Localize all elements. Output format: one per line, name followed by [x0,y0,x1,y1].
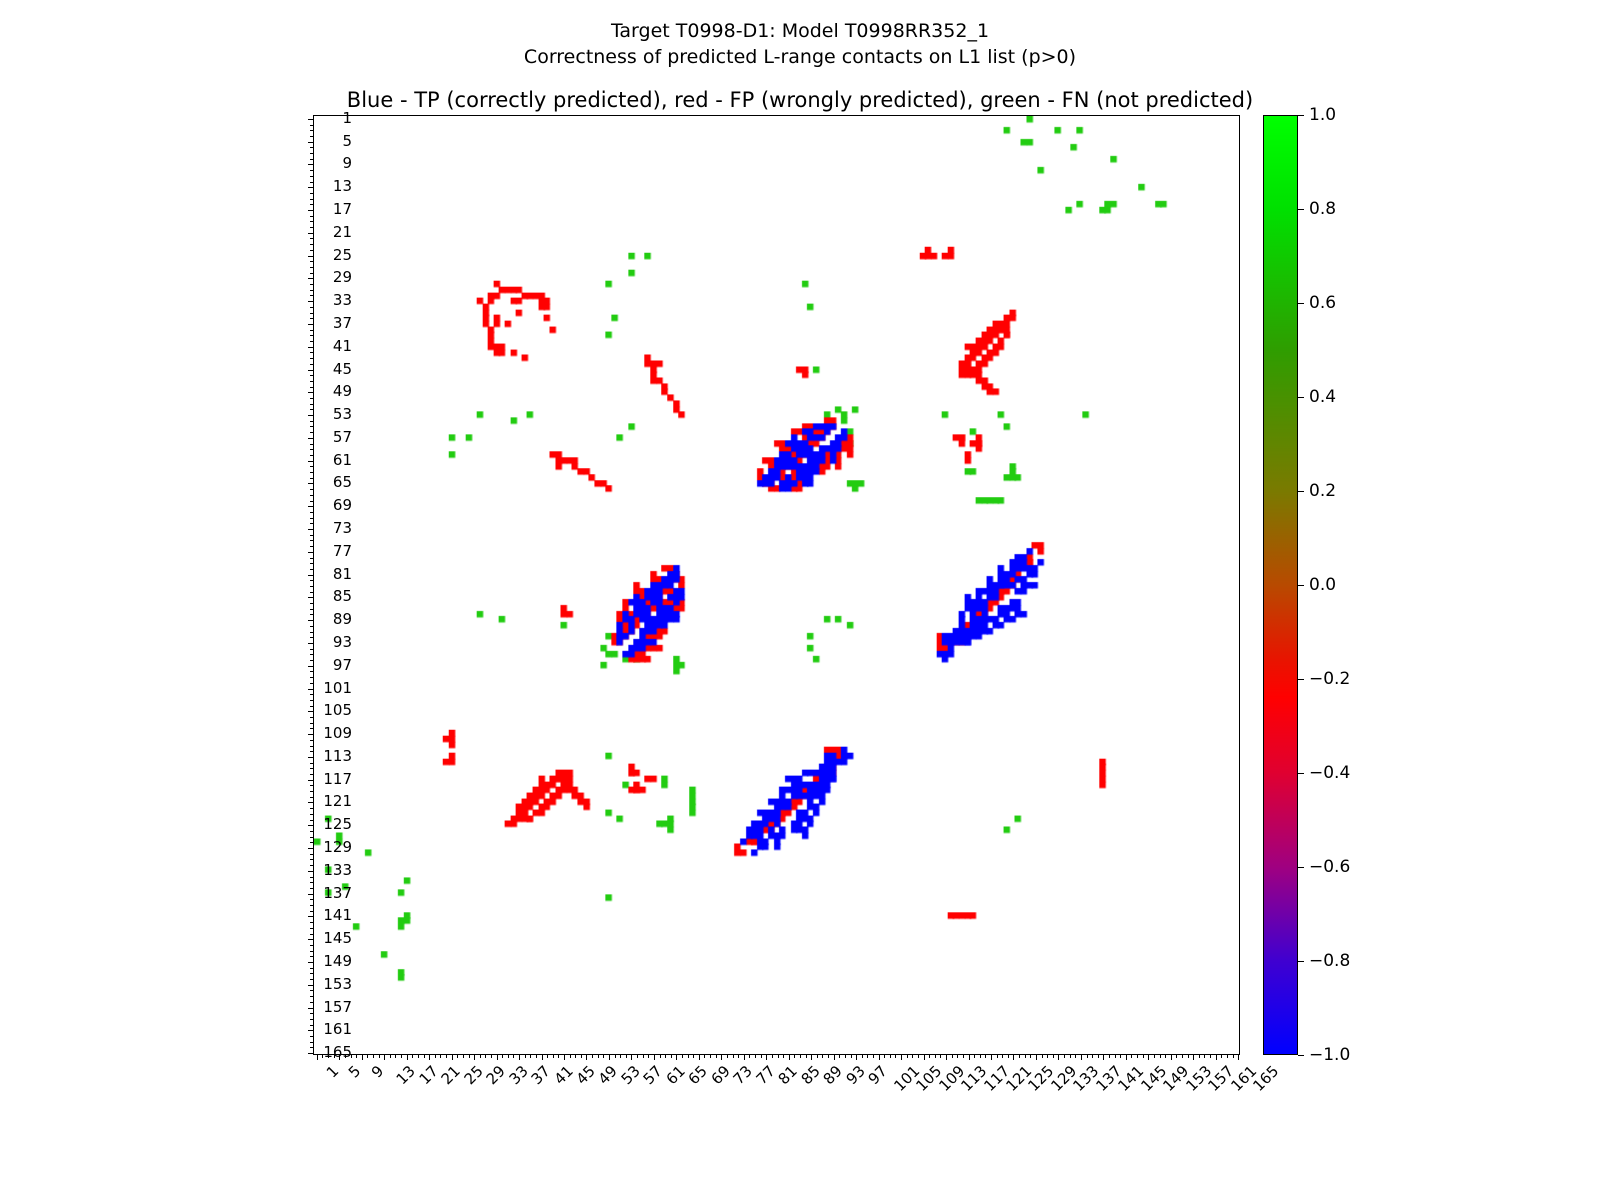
y-tick [310,404,314,405]
x-tick [1081,1054,1082,1060]
colorbar-tick [1298,585,1304,586]
x-tick [317,1054,318,1060]
x-tick [991,1054,992,1060]
x-tick [1042,1054,1043,1058]
y-tick [310,375,314,376]
x-tick [879,1054,880,1060]
x-tick [648,1054,649,1058]
y-tick [310,182,314,183]
x-tick [373,1054,374,1058]
y-tick [310,466,314,467]
y-tick-label: 41 [333,337,352,355]
y-tick [310,170,314,171]
y-tick [308,506,314,507]
y-tick [310,837,314,838]
y-tick [310,877,314,878]
y-tick [308,392,314,393]
y-tick-label: 49 [333,382,352,400]
x-tick [985,1054,986,1058]
x-tick [480,1054,481,1058]
y-tick-label: 21 [333,223,352,241]
contact-map-plot-area [313,115,1240,1055]
y-tick-label: 141 [323,906,352,924]
y-tick [310,1036,314,1037]
y-tick [310,472,314,473]
y-tick-label: 97 [333,656,352,674]
y-tick [310,501,314,502]
y-tick [310,358,314,359]
x-tick [1193,1054,1194,1060]
y-tick-label: 77 [333,542,352,560]
x-tick [789,1054,790,1060]
y-tick [308,278,314,279]
x-tick [1070,1054,1071,1058]
x-tick [834,1054,835,1060]
y-tick [308,461,314,462]
y-tick [310,227,314,228]
y-tick [310,199,314,200]
y-tick [308,825,314,826]
y-tick [310,125,314,126]
y-tick [310,763,314,764]
y-tick [310,478,314,479]
y-tick [310,449,314,450]
colorbar-tick-label: −1.0 [1309,1045,1350,1065]
y-tick-label: 65 [333,473,352,491]
x-tick [424,1054,425,1058]
y-tick [310,586,314,587]
y-tick [308,1030,314,1031]
x-tick [367,1054,368,1058]
y-tick [308,666,314,667]
y-tick [310,660,314,661]
x-tick-label: 1 [323,1062,342,1081]
colorbar-tick [1298,115,1304,116]
x-tick [929,1054,930,1058]
y-tick [310,569,314,570]
x-tick [733,1054,734,1058]
y-tick [308,939,314,940]
x-tick [952,1054,953,1058]
y-tick [308,301,314,302]
y-tick-label: 17 [333,200,352,218]
x-tick [570,1054,571,1058]
y-tick [310,934,314,935]
colorbar-gradient [1263,115,1298,1055]
y-tick [310,341,314,342]
x-tick [395,1054,396,1058]
colorbar-tick [1298,303,1304,304]
y-tick [310,546,314,547]
y-tick-label: 109 [323,724,352,742]
x-tick [620,1054,621,1058]
y-tick [310,797,314,798]
x-tick [738,1054,739,1058]
x-tick [862,1054,863,1058]
x-tick [519,1054,520,1060]
x-tick [997,1054,998,1058]
x-tick [491,1054,492,1058]
x-tick [1036,1054,1037,1060]
y-tick [310,888,314,889]
x-tick [362,1054,363,1060]
x-tick [924,1054,925,1060]
x-tick [435,1054,436,1058]
y-tick [310,244,314,245]
y-tick [310,694,314,695]
x-tick [912,1054,913,1058]
x-tick [643,1054,644,1058]
y-tick [310,609,314,610]
x-tick [1120,1054,1121,1058]
y-tick [310,774,314,775]
y-tick-label: 137 [323,884,352,902]
y-tick [308,233,314,234]
y-tick [308,802,314,803]
colorbar-tick [1298,773,1304,774]
x-tick [508,1054,509,1058]
y-tick-label: 89 [333,610,352,628]
x-tick [457,1054,458,1058]
y-tick [308,597,314,598]
y-tick [310,455,314,456]
y-tick [310,728,314,729]
y-tick [310,973,314,974]
x-tick [1143,1054,1144,1058]
x-tick [1227,1054,1228,1058]
y-tick [310,700,314,701]
y-tick [310,614,314,615]
y-tick [310,295,314,296]
x-tick [564,1054,565,1060]
x-tick [463,1054,464,1058]
y-tick [310,159,314,160]
x-tick [1103,1054,1104,1060]
y-tick [308,483,314,484]
y-tick [310,882,314,883]
y-tick [310,444,314,445]
x-tick [530,1054,531,1058]
y-tick-label: 161 [323,1020,352,1038]
y-tick [310,865,314,866]
y-tick [308,529,314,530]
x-tick-label: 165 [1250,1062,1283,1095]
x-tick [1165,1054,1166,1058]
y-tick [308,757,314,758]
y-tick [308,689,314,690]
x-tick [418,1054,419,1058]
x-tick [935,1054,936,1058]
colorbar-tick-label: 0.4 [1309,387,1336,407]
y-tick [310,580,314,581]
y-tick [310,979,314,980]
y-tick [310,671,314,672]
y-tick [308,620,314,621]
y-tick [310,945,314,946]
y-tick [308,415,314,416]
y-tick-label: 165 [323,1043,352,1061]
y-tick [310,751,314,752]
y-tick [310,626,314,627]
y-tick [310,990,314,991]
x-tick [772,1054,773,1058]
x-tick [761,1054,762,1058]
x-tick [1160,1054,1161,1058]
y-tick [310,204,314,205]
x-tick [1188,1054,1189,1058]
y-tick [310,791,314,792]
y-tick [310,523,314,524]
x-tick [671,1054,672,1058]
x-tick [1131,1054,1132,1058]
x-tick [665,1054,666,1058]
x-tick [800,1054,801,1058]
y-tick-label: 61 [333,451,352,469]
figure-title-block: Target T0998-D1: Model T0998RR352_1 Corr… [0,18,1600,70]
x-tick [474,1054,475,1060]
y-tick [310,632,314,633]
y-tick [310,911,314,912]
x-tick [688,1054,689,1058]
x-tick [469,1054,470,1058]
y-tick [310,649,314,650]
y-tick [310,928,314,929]
y-tick [310,221,314,222]
x-tick [446,1054,447,1058]
x-tick [603,1054,604,1058]
y-tick [308,871,314,872]
y-tick-label: 101 [323,679,352,697]
y-tick [308,370,314,371]
y-tick [310,426,314,427]
x-tick [974,1054,975,1058]
x-tick [1025,1054,1026,1058]
y-tick [308,780,314,781]
y-tick [310,592,314,593]
y-tick [308,347,314,348]
x-tick [575,1054,576,1058]
y-tick-label: 121 [323,792,352,810]
x-tick [884,1054,885,1058]
y-tick-label: 37 [333,314,352,332]
y-tick [310,677,314,678]
y-tick [310,1013,314,1014]
x-tick [963,1054,964,1058]
x-tick [1058,1054,1059,1060]
y-tick [310,352,314,353]
y-tick-label: 157 [323,998,352,1016]
colorbar: 1.00.80.60.40.20.0−0.2−0.4−0.6−0.8−1.0 [1263,115,1298,1055]
colorbar-tick [1298,679,1304,680]
x-tick [637,1054,638,1058]
x-tick [721,1054,722,1060]
x-tick [586,1054,587,1060]
colorbar-tick [1298,209,1304,210]
y-tick [308,119,314,120]
x-tick [1115,1054,1116,1058]
y-tick [310,637,314,638]
x-tick [845,1054,846,1058]
y-tick [310,193,314,194]
y-tick [308,916,314,917]
colorbar-tick-label: −0.4 [1309,763,1350,783]
x-tick [727,1054,728,1058]
y-tick [310,723,314,724]
figure-title-line-2: Correctness of predicted L-range contact… [0,44,1600,70]
x-tick [609,1054,610,1060]
colorbar-tick [1298,397,1304,398]
x-tick [778,1054,779,1058]
x-tick [704,1054,705,1058]
y-tick [310,905,314,906]
x-tick-label: 5 [345,1062,364,1081]
x-tick [1137,1054,1138,1058]
x-tick [1064,1054,1065,1058]
y-tick [310,495,314,496]
x-tick [615,1054,616,1058]
x-tick [1171,1054,1172,1060]
y-tick [310,273,314,274]
y-tick [310,768,314,769]
y-tick-label: 5 [342,132,352,150]
x-tick [969,1054,970,1060]
y-tick [308,187,314,188]
x-tick [384,1054,385,1060]
x-tick [1126,1054,1127,1060]
x-tick [1087,1054,1088,1058]
x-tick [1148,1054,1149,1060]
x-tick [536,1054,537,1058]
y-tick-label: 73 [333,519,352,537]
y-tick [310,831,314,832]
x-tick [1008,1054,1009,1058]
y-tick [310,922,314,923]
x-tick [699,1054,700,1060]
y-tick [310,136,314,137]
x-tick [390,1054,391,1058]
y-tick-label: 45 [333,360,352,378]
x-tick [513,1054,514,1058]
y-tick [308,985,314,986]
y-tick-label: 93 [333,633,352,651]
y-tick [310,238,314,239]
x-tick [598,1054,599,1058]
x-tick [542,1054,543,1060]
y-tick [310,1002,314,1003]
y-tick [310,854,314,855]
x-tick [980,1054,981,1058]
x-tick [839,1054,840,1058]
y-tick-label: 69 [333,496,352,514]
x-tick [806,1054,807,1058]
x-tick [817,1054,818,1058]
y-tick [310,267,314,268]
y-tick-label: 125 [323,815,352,833]
x-tick [356,1054,357,1058]
contact-map-canvas [314,116,1239,1054]
y-tick [308,552,314,553]
y-tick [310,176,314,177]
y-tick [308,164,314,165]
y-tick [308,256,314,257]
colorbar-tick-label: 0.2 [1309,481,1336,501]
x-tick [429,1054,430,1060]
y-tick [310,318,314,319]
x-tick [766,1054,767,1060]
x-tick [592,1054,593,1058]
y-tick-label: 117 [323,770,352,788]
y-tick [310,284,314,285]
y-tick [310,261,314,262]
y-tick [310,432,314,433]
y-tick [310,335,314,336]
y-tick [310,956,314,957]
x-tick [407,1054,408,1060]
y-tick [310,307,314,308]
x-tick [822,1054,823,1058]
y-tick [308,711,314,712]
y-tick [310,1025,314,1026]
y-tick [310,147,314,148]
y-tick [308,734,314,735]
y-tick [310,842,314,843]
x-tick [716,1054,717,1058]
y-tick [308,575,314,576]
y-tick [310,820,314,821]
x-tick [1013,1054,1014,1060]
y-tick-label: 25 [333,246,352,264]
x-tick [1238,1054,1239,1060]
y-tick-label: 105 [323,701,352,719]
y-tick [308,643,314,644]
x-tick [1109,1054,1110,1058]
x-tick [856,1054,857,1060]
x-tick [1075,1054,1076,1058]
y-tick [308,324,314,325]
x-tick [676,1054,677,1060]
x-tick [1047,1054,1048,1058]
x-tick [497,1054,498,1060]
y-tick [310,603,314,604]
y-tick [310,706,314,707]
y-tick [310,381,314,382]
x-tick [440,1054,441,1058]
x-tick [901,1054,902,1060]
y-tick [308,438,314,439]
colorbar-tick-label: −0.2 [1309,669,1350,689]
y-tick [310,558,314,559]
y-tick [310,1042,314,1043]
x-tick [744,1054,745,1060]
x-tick [946,1054,947,1060]
y-tick-label: 129 [323,838,352,856]
x-tick [1019,1054,1020,1058]
y-tick [310,421,314,422]
x-tick [654,1054,655,1060]
x-tick [867,1054,868,1058]
colorbar-tick-label: −0.8 [1309,951,1350,971]
y-tick [310,1019,314,1020]
x-tick [755,1054,756,1058]
x-tick [626,1054,627,1058]
y-tick [308,848,314,849]
x-tick [828,1054,829,1058]
y-tick [310,535,314,536]
x-tick [783,1054,784,1058]
x-tick [502,1054,503,1058]
x-tick [1233,1054,1234,1058]
y-tick [310,563,314,564]
